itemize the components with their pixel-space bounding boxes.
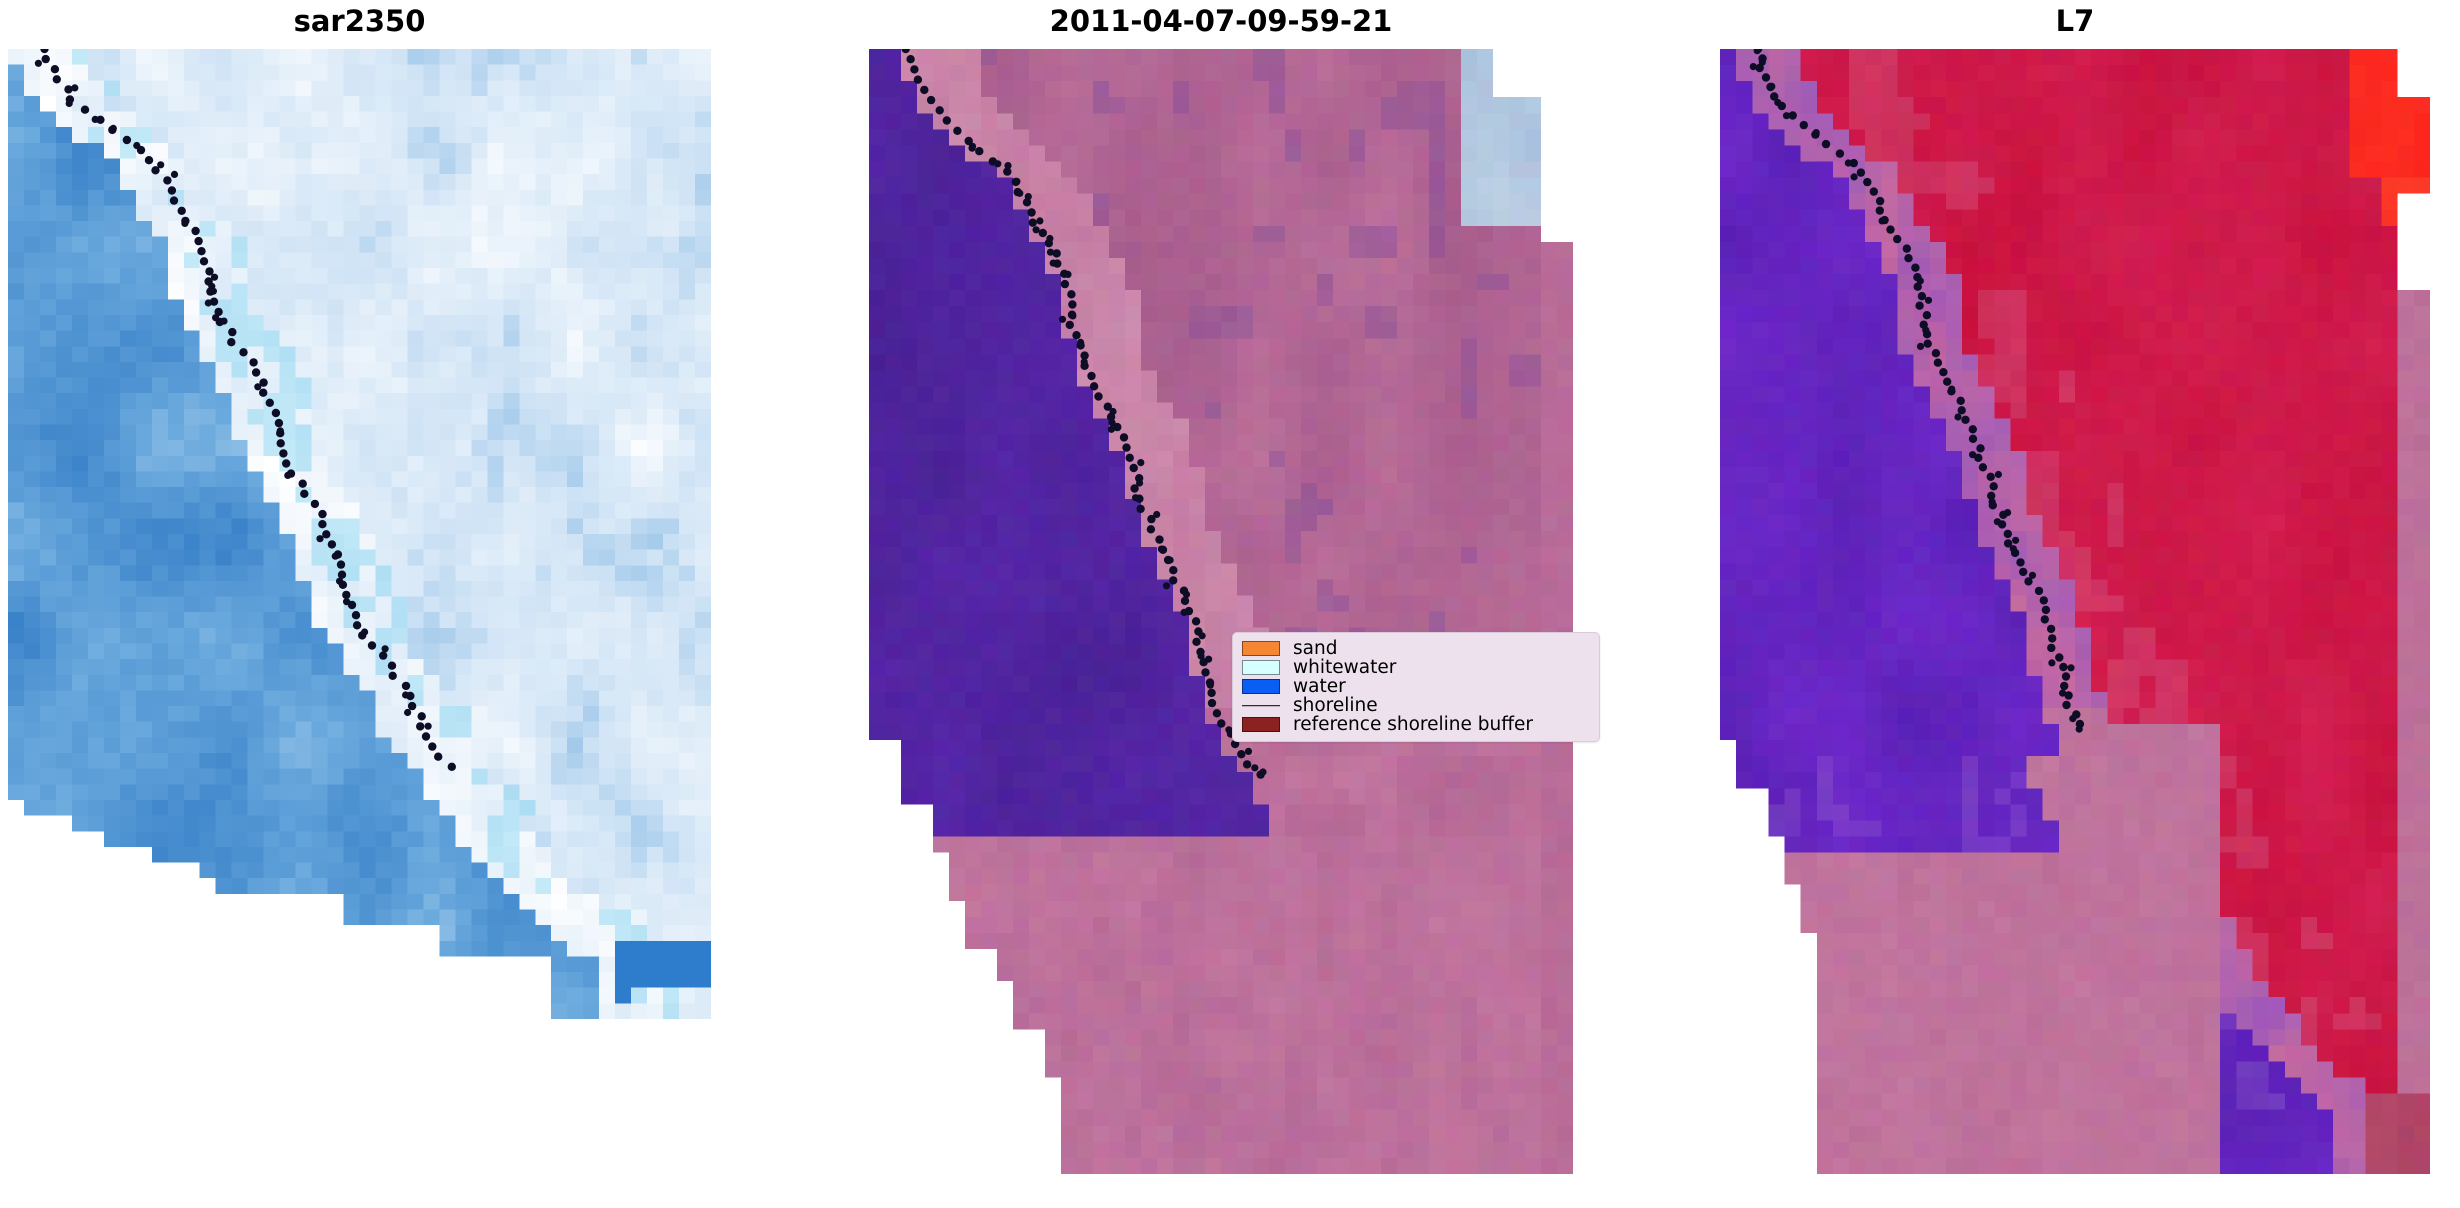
legend-item-whitewater: whitewater [1242, 658, 1590, 677]
legend-item-water: water [1242, 677, 1590, 696]
legend-line-shoreline [1242, 698, 1280, 713]
legend-label-shoreline: shoreline [1293, 696, 1378, 715]
legend-item-sand: sand [1242, 639, 1590, 658]
panel-rgb: 2011-04-07-09-59-21 [869, 0, 1573, 1208]
panel-sar2350: sar2350 [8, 0, 711, 1208]
axes-rgb [869, 49, 1573, 1174]
legend-swatch-whitewater [1242, 660, 1280, 675]
legend-swatch-water [1242, 679, 1280, 694]
legend-item-reference-shoreline-buffer: reference shoreline buffer [1242, 715, 1590, 734]
shoreline-overlay-rgb [869, 49, 1573, 1174]
panel-title-l7: L7 [1720, 0, 2430, 38]
axes-sar2350 [8, 49, 711, 1019]
shoreline-overlay-sar2350 [8, 49, 711, 1019]
legend-item-shoreline: shoreline [1242, 696, 1590, 715]
axes-l7 [1720, 49, 2430, 1174]
legend: sand whitewater water shoreline referenc… [1232, 632, 1600, 742]
figure-canvas: sar2350 2011-04-07-09-59-21 L7 [0, 0, 2460, 1208]
legend-label-water: water [1293, 677, 1346, 696]
panel-l7: L7 [1720, 0, 2430, 1208]
legend-label-reference-shoreline-buffer: reference shoreline buffer [1293, 715, 1533, 734]
legend-swatch-reference-shoreline-buffer [1242, 717, 1280, 732]
shoreline-overlay-l7 [1720, 49, 2430, 1174]
panel-title-rgb: 2011-04-07-09-59-21 [869, 0, 1573, 38]
legend-label-sand: sand [1293, 639, 1337, 658]
legend-swatch-sand [1242, 641, 1280, 656]
legend-label-whitewater: whitewater [1293, 658, 1396, 677]
panel-title-sar2350: sar2350 [8, 0, 711, 38]
